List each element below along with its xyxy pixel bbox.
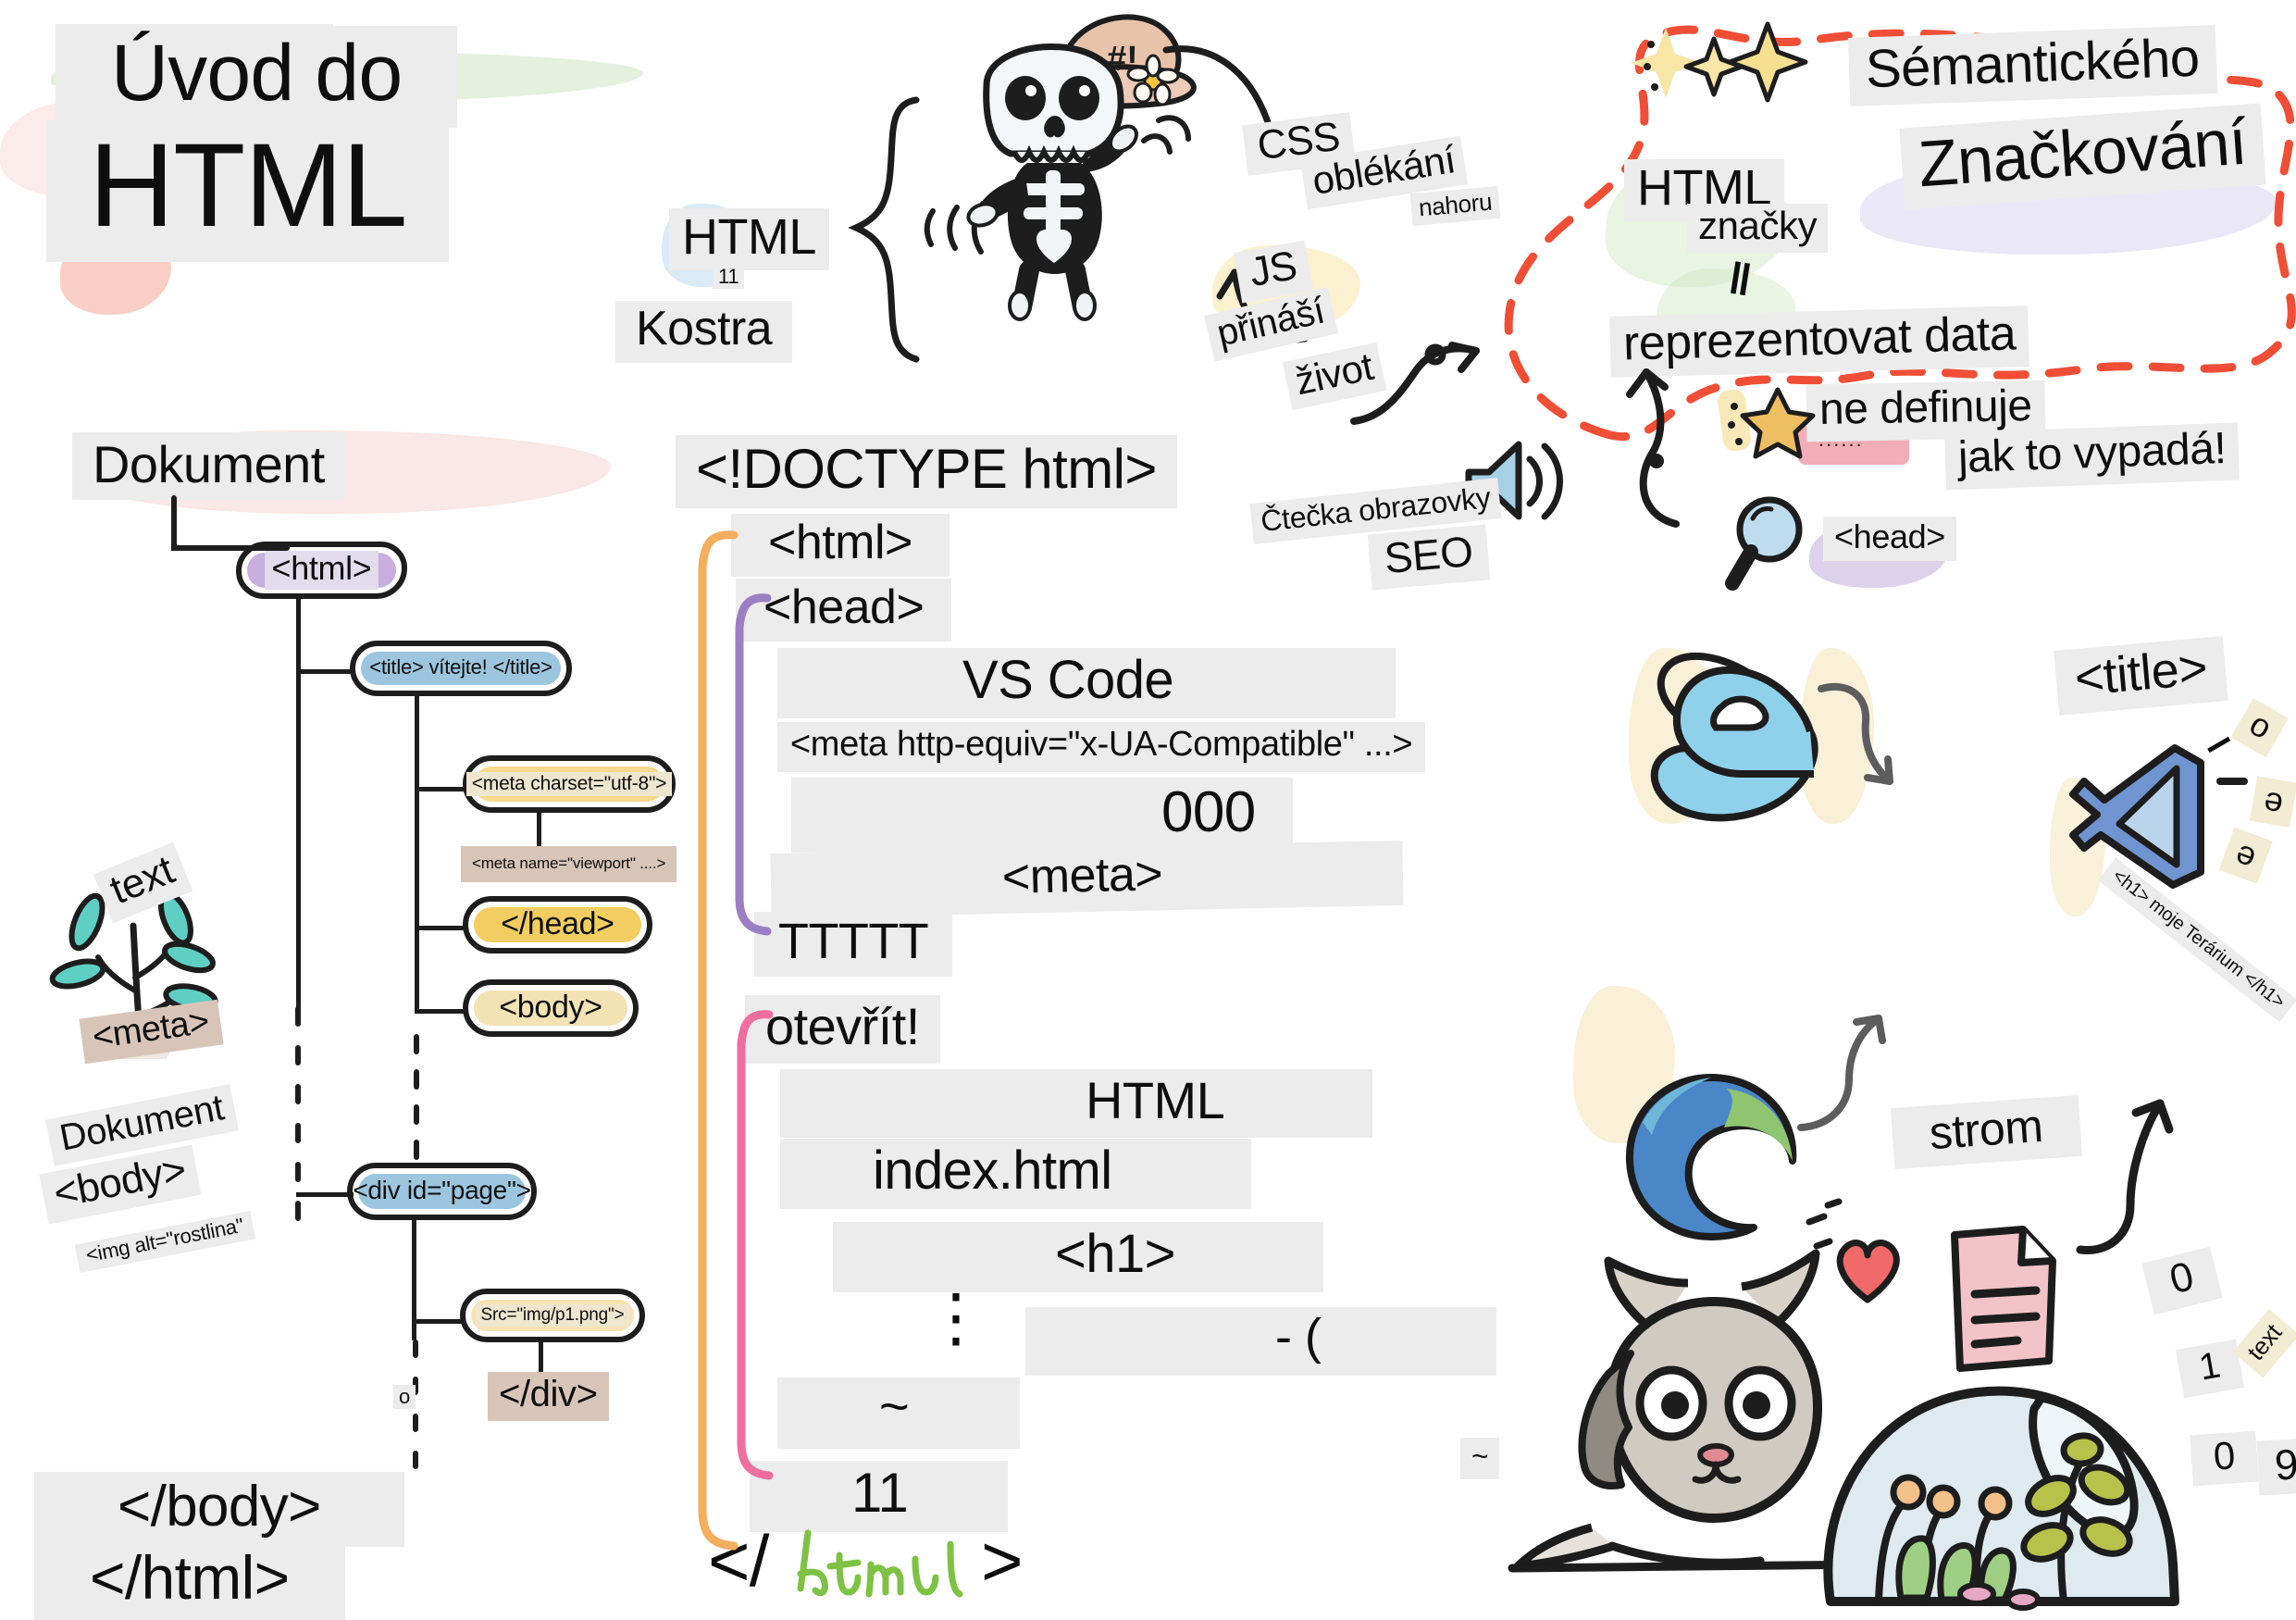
scatter-number-3: 9 <box>2257 1438 2296 1495</box>
tree-node-div-label: <div id="page"> <box>343 1176 540 1208</box>
page-title-line1: Úvod do <box>56 26 457 128</box>
code-meta-http-equiv: <meta http-equiv="x-UA-Compatible" ...> <box>777 722 1425 772</box>
title-tag-label: <title> <box>2054 636 2228 716</box>
code-doctype: <!DOCTYPE html> <box>676 435 1177 508</box>
tree-node-div[interactable]: <div id="page"> <box>347 1163 537 1220</box>
skeleton-html-label: HTML <box>669 208 829 270</box>
tree-o-marker: o <box>393 1385 416 1409</box>
tree-branch-head-close <box>415 926 468 930</box>
page-title-line2: HTML <box>46 120 449 262</box>
tree-trunk-head <box>415 696 419 1009</box>
code-html-open: <html> <box>731 514 949 577</box>
code-h1: <h1> <box>833 1222 1323 1292</box>
strom-label: strom <box>1891 1095 2082 1169</box>
tree-branch-src <box>412 1319 464 1324</box>
bracket-head-purple <box>725 592 776 953</box>
tree-drop-viewport <box>537 813 541 848</box>
tree-node-meta-charset-label: <meta charset="utf-8"> <box>466 772 673 795</box>
code-vscode: VS Code <box>777 648 1396 718</box>
sparkles-icon <box>1629 19 1814 130</box>
tree-node-head-close-label: </head> <box>491 906 623 944</box>
semantic-head-tag-label: <head> <box>1823 517 1956 561</box>
tree-node-div-close[interactable]: </div> <box>488 1372 609 1421</box>
tree-node-src[interactable]: Src="img/p1.png"> <box>460 1289 645 1342</box>
tree-node-src-label: Src="img/p1.png"> <box>476 1304 630 1326</box>
equals-symbol: ‖ <box>1716 254 1763 310</box>
tree-node-html-label: <html> <box>265 551 379 590</box>
code-meta-tag: <meta> <box>770 841 1404 918</box>
sparkle-dots-icon <box>1800 1194 1883 1259</box>
tree-node-meta-charset[interactable]: <meta charset="utf-8"> <box>463 755 676 813</box>
scatter-number-1: 1 <box>2176 1340 2244 1398</box>
tree-node-title[interactable]: <title> vítejte! </title> <box>350 641 572 696</box>
tree-branch-meta-charset <box>415 787 468 791</box>
code-html-word: HTML <box>780 1069 1372 1138</box>
semanticke-label: Sémantického <box>1848 25 2217 106</box>
tree-node-title-label: <title> vítejte! </title> <box>360 655 562 681</box>
star-icon <box>1717 384 1818 458</box>
tree-node-html[interactable]: <html> <box>236 542 407 599</box>
tree-branch-body <box>415 1009 468 1014</box>
terrarium-icon <box>1805 1231 2203 1620</box>
skeleton-kostra-label: Kostra <box>615 301 792 363</box>
scatter-text-label: text <box>2233 1309 2296 1377</box>
closing-html-tag: </html> <box>34 1541 345 1620</box>
code-ellipsis: ⋮ <box>914 1296 998 1340</box>
code-eleven: 11 <box>750 1461 1008 1532</box>
arrow-curl-ie <box>1814 676 1943 805</box>
semantic-znacky-label: značky <box>1687 204 1828 253</box>
code-ttttt: TTTTT <box>754 912 952 977</box>
tree-node-body-label: <body> <box>490 990 611 1028</box>
closing-body-tag: </body> <box>34 1472 404 1547</box>
code-dash-paren: - ( <box>1025 1307 1496 1376</box>
scatter-letter-2: e <box>2250 777 2296 829</box>
side-label-img-alt: <img alt="rostlina" <box>75 1211 255 1274</box>
arrow-curl-file-to-vscode <box>2064 1065 2212 1259</box>
internet-explorer-icon <box>1638 639 1842 838</box>
tree-branch-title <box>296 669 354 674</box>
code-zeros: 000 <box>791 778 1293 853</box>
scatter-letter-dash <box>2216 778 2248 785</box>
tree-dashed-bottom <box>410 1342 423 1500</box>
code-closing-sketch-right: > <box>972 1523 1032 1602</box>
skeleton-html-subscript: 11 <box>713 265 744 289</box>
scatter-number-2: 0 <box>2190 1431 2259 1487</box>
seo-label: SEO <box>1368 525 1491 591</box>
tree-trunk-html <box>296 599 301 1011</box>
jak-to-vypada-label: jak to vypadá! <box>1944 422 2240 490</box>
dots-on-pink: ...... <box>1809 428 1873 454</box>
sketchnote-canvas: Úvod do HTML Dokument HTML 11 Kostra #! <box>0 0 2296 1619</box>
magnifier-icon <box>1723 491 1825 597</box>
code-tilde: ~ <box>777 1377 1020 1449</box>
tilde-small-label: ~ <box>1460 1438 1499 1479</box>
tree-node-body[interactable]: <body> <box>463 979 639 1037</box>
arrow-curl-to-semantic <box>1347 329 1495 430</box>
brace-icon <box>838 93 939 370</box>
code-index-html: index.html <box>780 1139 1251 1209</box>
bracket-body-pink <box>725 1009 776 1500</box>
tree-dashed-body-continue <box>292 1009 305 1250</box>
tree-node-meta-viewport[interactable]: <meta name="viewport" ....> <box>461 846 676 882</box>
tree-node-head-close[interactable]: </head> <box>463 896 652 953</box>
